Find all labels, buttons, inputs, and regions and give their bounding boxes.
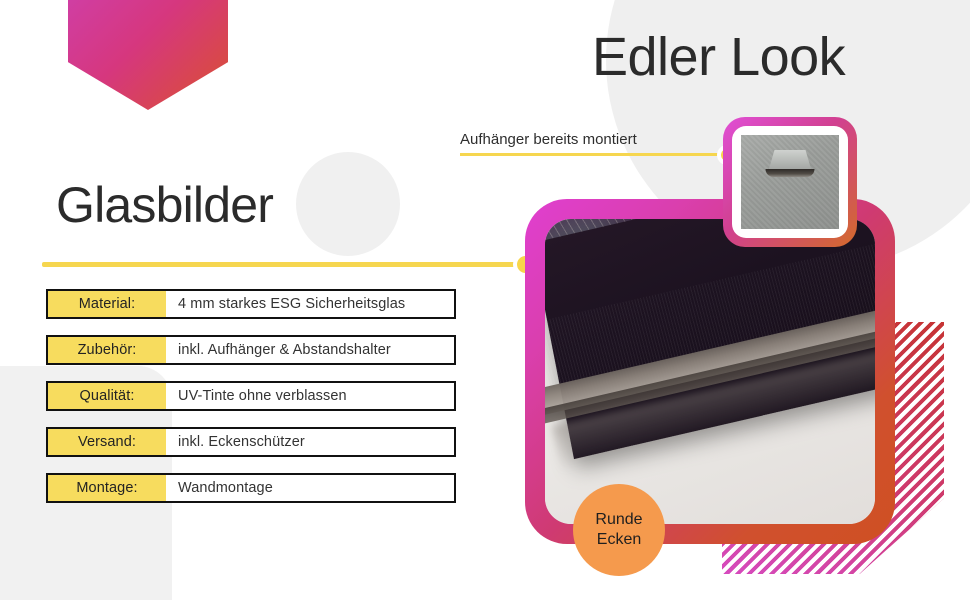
spec-key: Versand: — [48, 429, 166, 455]
spec-value: UV-Tinte ohne verblassen — [166, 383, 454, 409]
badge-line-1: Runde — [595, 510, 642, 530]
tagline-heading: Edler Look — [592, 26, 845, 88]
hanger-clip-shape — [768, 150, 811, 171]
product-photo — [545, 219, 875, 524]
spec-value: 4 mm starkes ESG Sicherheitsglas — [166, 291, 454, 317]
spec-key: Material: — [48, 291, 166, 317]
spec-list: Material: 4 mm starkes ESG Sicherheitsgl… — [46, 289, 456, 519]
title-divider-rule — [42, 262, 527, 267]
badge-line-2: Ecken — [597, 530, 641, 550]
background-circle-title — [296, 152, 400, 256]
table-row: Material: 4 mm starkes ESG Sicherheitsgl… — [46, 289, 456, 319]
hanger-inset-frame — [723, 117, 857, 247]
table-row: Montage: Wandmontage — [46, 473, 456, 503]
spec-key: Qualität: — [48, 383, 166, 409]
wall-hanger-plate-icon — [741, 135, 839, 229]
hanger-slot-shape — [766, 169, 815, 177]
hanger-inset-mat — [732, 126, 848, 238]
product-image-frame — [525, 199, 895, 544]
table-row: Zubehör: inkl. Aufhänger & Abstandshalte… — [46, 335, 456, 365]
infographic-stage: Edler Look Glasbilder Aufhänger bereits … — [0, 0, 970, 600]
spec-key: Montage: — [48, 475, 166, 501]
hanger-callout-rule — [460, 153, 728, 156]
spec-value: inkl. Aufhänger & Abstandshalter — [166, 337, 454, 363]
spec-value: inkl. Eckenschützer — [166, 429, 454, 455]
table-row: Versand: inkl. Eckenschützer — [46, 427, 456, 457]
table-row: Qualität: UV-Tinte ohne verblassen — [46, 381, 456, 411]
hanger-callout-label: Aufhänger bereits montiert — [460, 131, 637, 148]
spec-value: Wandmontage — [166, 475, 454, 501]
spec-key: Zubehör: — [48, 337, 166, 363]
shield-banner-icon — [68, 0, 228, 110]
page-title: Glasbilder — [56, 176, 273, 234]
runde-ecken-badge: Runde Ecken — [573, 484, 665, 576]
